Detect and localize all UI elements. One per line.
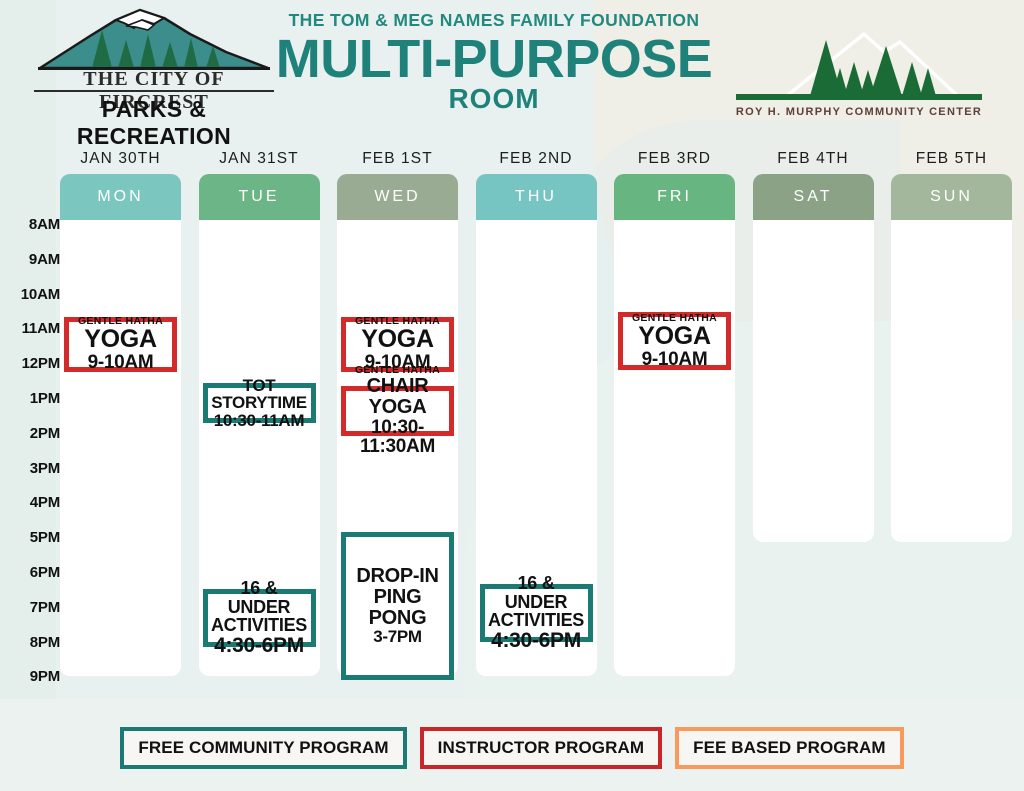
day-column-thu: FEB 2NDTHU16 & UNDER ACTIVITIES4:30-6PM bbox=[476, 174, 597, 676]
event-time: 3-7PM bbox=[373, 628, 422, 646]
time-label: 12PM bbox=[8, 355, 60, 372]
title-block: THE TOM & MEG NAMES FAMILY FOUNDATION MU… bbox=[268, 12, 720, 113]
time-label: 8PM bbox=[8, 634, 60, 651]
day-column-fri: FEB 3RDFRIGENTLE HATHAYOGA9-10AM bbox=[614, 174, 735, 676]
day-date-label: JAN 31ST bbox=[199, 150, 320, 168]
event-title: 16 & UNDER ACTIVITIES bbox=[485, 574, 588, 630]
day-header-mon[interactable]: MON bbox=[60, 174, 181, 220]
event-time: 9-10AM bbox=[642, 350, 708, 370]
event-time: 9-10AM bbox=[88, 353, 154, 373]
day-header-tue[interactable]: TUE bbox=[199, 174, 320, 220]
legend-item-orange[interactable]: FEE BASED PROGRAM bbox=[675, 727, 904, 769]
event-time: 4:30-6PM bbox=[491, 630, 581, 652]
day-body-sun bbox=[891, 220, 1012, 542]
day-date-label: FEB 5TH bbox=[891, 150, 1012, 168]
time-label: 10AM bbox=[8, 286, 60, 303]
event-block[interactable]: GENTLE HATHAYOGA9-10AM bbox=[618, 312, 731, 370]
event-time: 10:30-11:30AM bbox=[346, 418, 449, 457]
day-body-sat bbox=[753, 220, 874, 542]
page-header: THE CITY OF FIRCREST PARKS & RECREATION … bbox=[0, 0, 1024, 148]
event-title: TOT STORYTIME bbox=[208, 377, 311, 412]
fircrest-logo-divider bbox=[34, 90, 274, 92]
event-title: 16 & UNDER ACTIVITIES bbox=[208, 579, 311, 635]
murphy-community-center-logo: ROY H. MURPHY COMMUNITY CENTER bbox=[724, 22, 994, 128]
event-title: YOGA bbox=[361, 327, 433, 353]
event-time: 4:30-6PM bbox=[214, 635, 304, 657]
time-label: 5PM bbox=[8, 529, 60, 546]
program-type-legend: FREE COMMUNITY PROGRAMINSTRUCTOR PROGRAM… bbox=[0, 727, 1024, 769]
day-column-sat: FEB 4THSAT bbox=[753, 174, 874, 542]
time-label: 7PM bbox=[8, 599, 60, 616]
time-label: 9PM bbox=[8, 668, 60, 685]
weekly-schedule-grid: 8AM9AM10AM11AM12PM1PM2PM3PM4PM5PM6PM7PM8… bbox=[0, 148, 1024, 693]
event-time: 10:30-11AM bbox=[214, 412, 305, 430]
day-body-wed: GENTLE HATHAYOGA9-10AMGENTLE HATHACHAIR … bbox=[337, 220, 458, 676]
murphy-logo-label: ROY H. MURPHY COMMUNITY CENTER bbox=[724, 106, 994, 118]
day-date-label: FEB 3RD bbox=[614, 150, 735, 168]
day-header-fri[interactable]: FRI bbox=[614, 174, 735, 220]
day-column-sun: FEB 5THSUN bbox=[891, 174, 1012, 542]
day-date-label: FEB 2ND bbox=[476, 150, 597, 168]
day-body-mon: GENTLE HATHAYOGA9-10AM bbox=[60, 220, 181, 676]
fircrest-logo-line2: PARKS & RECREATION bbox=[30, 96, 278, 150]
title-eyebrow: THE TOM & MEG NAMES FAMILY FOUNDATION bbox=[268, 12, 720, 30]
page-subtitle: ROOM bbox=[268, 85, 720, 113]
page-title: MULTI-PURPOSE bbox=[268, 32, 720, 87]
day-body-fri: GENTLE HATHAYOGA9-10AM bbox=[614, 220, 735, 676]
day-column-tue: JAN 31STTUETOT STORYTIME10:30-11AM16 & U… bbox=[199, 174, 320, 676]
day-column-wed: FEB 1STWEDGENTLE HATHAYOGA9-10AMGENTLE H… bbox=[337, 174, 458, 676]
day-date-label: JAN 30TH bbox=[60, 150, 181, 168]
day-header-sun[interactable]: SUN bbox=[891, 174, 1012, 220]
event-block[interactable]: DROP-IN PING PONG3-7PM bbox=[341, 532, 454, 680]
event-block[interactable]: 16 & UNDER ACTIVITIES4:30-6PM bbox=[480, 584, 593, 642]
event-title: YOGA bbox=[84, 327, 156, 353]
day-date-label: FEB 4TH bbox=[753, 150, 874, 168]
day-header-wed[interactable]: WED bbox=[337, 174, 458, 220]
time-label: 11AM bbox=[8, 320, 60, 337]
event-title: YOGA bbox=[638, 324, 710, 350]
event-title: DROP-IN PING PONG bbox=[346, 566, 449, 628]
day-date-label: FEB 1ST bbox=[337, 150, 458, 168]
event-block[interactable]: GENTLE HATHACHAIR YOGA10:30-11:30AM bbox=[341, 386, 454, 436]
time-label: 6PM bbox=[8, 564, 60, 581]
mountain-trees-icon bbox=[30, 8, 278, 72]
time-label: 8AM bbox=[8, 216, 60, 233]
legend-item-teal[interactable]: FREE COMMUNITY PROGRAM bbox=[120, 727, 406, 769]
fircrest-logo: THE CITY OF FIRCREST PARKS & RECREATION bbox=[30, 8, 278, 130]
day-header-sat[interactable]: SAT bbox=[753, 174, 874, 220]
time-label: 9AM bbox=[8, 251, 60, 268]
day-body-tue: TOT STORYTIME10:30-11AM16 & UNDER ACTIVI… bbox=[199, 220, 320, 676]
time-label: 1PM bbox=[8, 390, 60, 407]
day-body-thu: 16 & UNDER ACTIVITIES4:30-6PM bbox=[476, 220, 597, 676]
day-header-thu[interactable]: THU bbox=[476, 174, 597, 220]
event-title: CHAIR YOGA bbox=[346, 376, 449, 417]
time-label: 2PM bbox=[8, 425, 60, 442]
event-block[interactable]: GENTLE HATHAYOGA9-10AM bbox=[64, 317, 177, 372]
event-block[interactable]: TOT STORYTIME10:30-11AM bbox=[203, 383, 316, 423]
event-block[interactable]: 16 & UNDER ACTIVITIES4:30-6PM bbox=[203, 589, 316, 647]
legend-item-red[interactable]: INSTRUCTOR PROGRAM bbox=[420, 727, 662, 769]
time-label: 3PM bbox=[8, 460, 60, 477]
time-label: 4PM bbox=[8, 494, 60, 511]
day-column-mon: JAN 30THMONGENTLE HATHAYOGA9-10AM bbox=[60, 174, 181, 676]
